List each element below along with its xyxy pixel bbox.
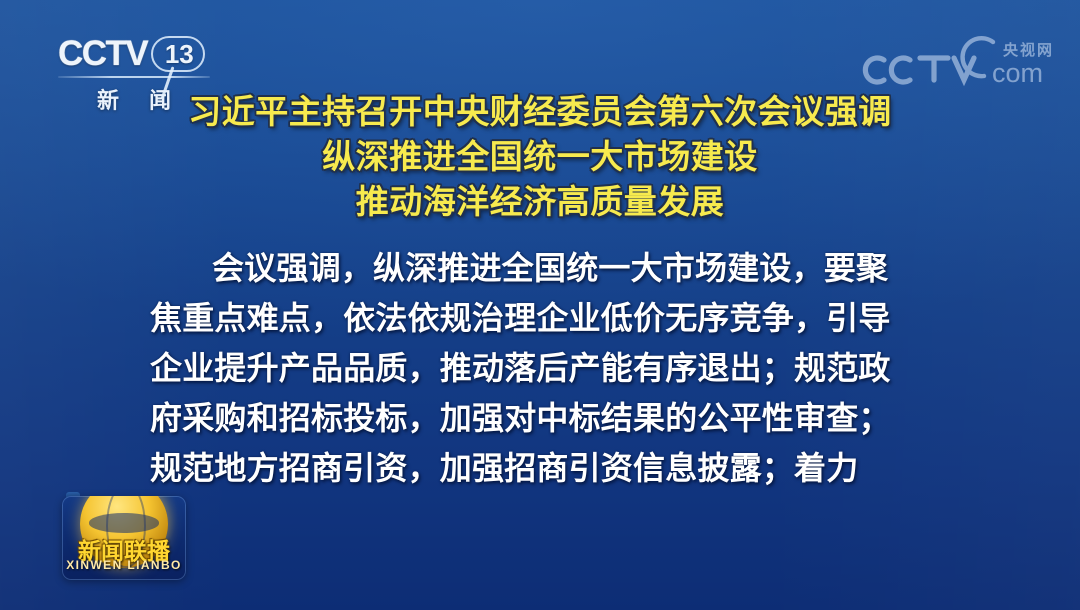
body-line-4: 府采购和招标投标，加强对中标结果的公平性审查； (150, 393, 940, 443)
broadcast-screen: CCTV 13 新 闻 com 央视网 习近平主持召开中央财经委员会第六 (0, 0, 1080, 610)
channel-number-capsule: 13 (151, 36, 205, 72)
program-en-title: XINWEN LIANBO (62, 558, 186, 572)
watermark-cn-text: 央视网 (1003, 41, 1054, 59)
channel-logo-row: CCTV 13 (58, 34, 218, 74)
channel-number-text: 13 (165, 41, 194, 67)
body-line-1: 会议强调，纵深推进全国统一大市场建设，要聚 (150, 243, 940, 293)
body-line-3: 企业提升产品品质，推动落后产能有序退出；规范政 (150, 343, 940, 393)
watermark-domain-text: com (992, 58, 1043, 88)
channel-underline-rule (58, 76, 210, 78)
body-paragraph: 会议强调，纵深推进全国统一大市场建设，要聚 焦重点难点，依法依规治理企业低价无序… (150, 243, 940, 493)
channel-brand-text: CCTV (58, 34, 147, 74)
body-line-2: 焦重点难点，依法依规治理企业低价无序竞争，引导 (150, 293, 940, 343)
headline-line-1: 习近平主持召开中央财经委员会第六次会议强调 (0, 92, 1080, 132)
headline-line-3: 推动海洋经济高质量发展 (0, 182, 1080, 222)
cctv-com-watermark: com 央视网 (862, 30, 1072, 92)
headline-line-2: 纵深推进全国统一大市场建设 (0, 137, 1080, 177)
watermark-graphic-icon: com 央视网 (862, 30, 1072, 92)
xinwen-lianbo-program-logo: 新闻联播 XINWEN LIANBO (62, 496, 186, 580)
body-line-5: 规范地方招商引资，加强招商引资信息披露；着力 (150, 443, 940, 493)
headline-block: 习近平主持召开中央财经委员会第六次会议强调 纵深推进全国统一大市场建设 推动海洋… (0, 92, 1080, 222)
